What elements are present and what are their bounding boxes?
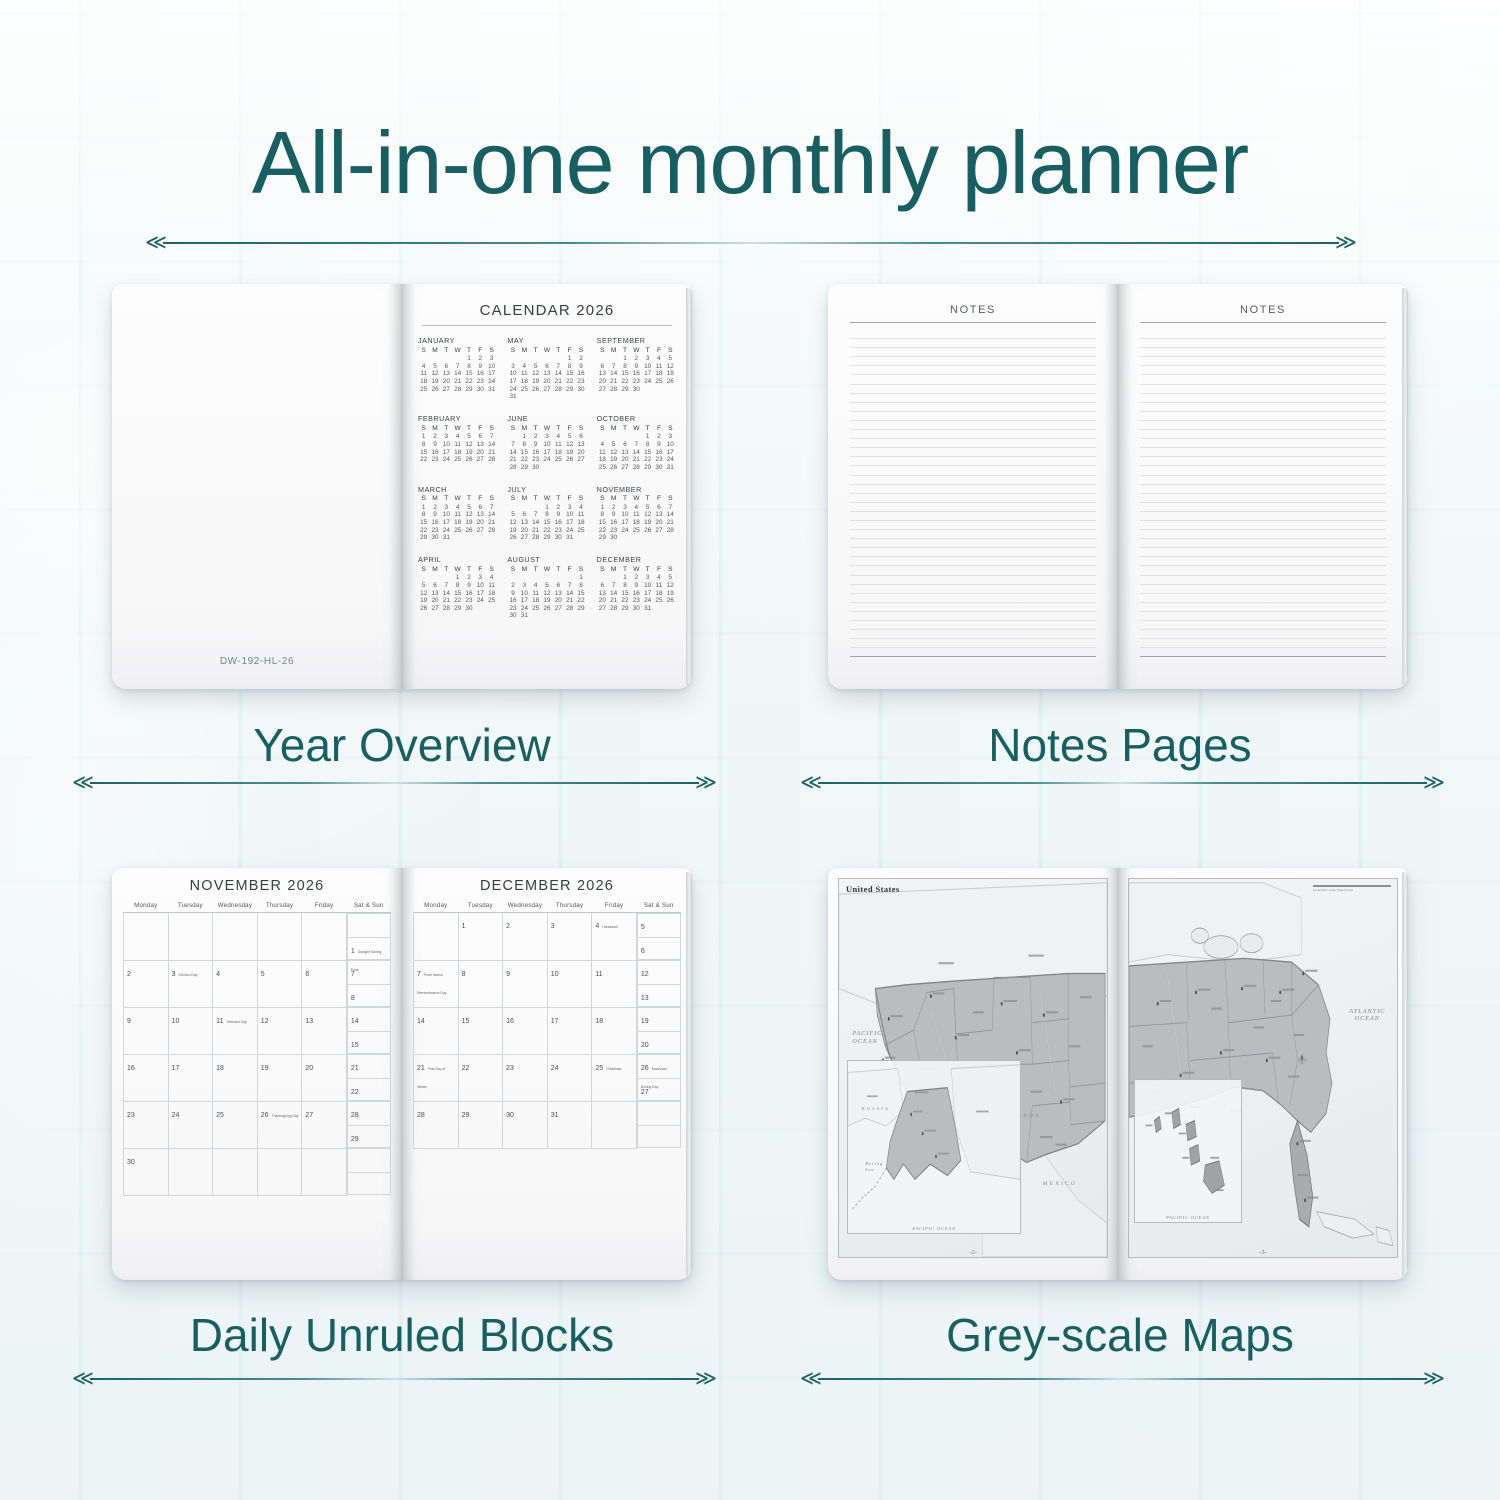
mini-month-day: 28 xyxy=(608,386,619,394)
weekday-initial: T xyxy=(441,496,452,505)
mini-month-day: 30 xyxy=(631,386,642,394)
planner-day-number: 22 xyxy=(462,1065,470,1072)
calendar-title: CALENDAR 2026 xyxy=(418,302,676,319)
planner-day-cell[interactable]: 9 xyxy=(503,960,548,1007)
mini-month-day: 30 xyxy=(575,386,586,394)
mini-month-day: 27 xyxy=(429,605,440,613)
mini-month-day: 8 xyxy=(642,441,653,449)
planner-weekday-header: Friday xyxy=(302,899,347,913)
map-left-page: United States xyxy=(828,868,1118,1280)
planner-weekend-half[interactable]: 7 xyxy=(347,960,391,984)
monthly-planner-book[interactable]: NOVEMBER 2026 MondayTuesdayWednesdayThur… xyxy=(112,868,692,1280)
weekday-initial: S xyxy=(418,496,429,505)
planner-day-cell[interactable] xyxy=(592,1101,637,1148)
mini-month-day: 4 xyxy=(597,441,608,449)
weekday-initial: S xyxy=(486,496,497,505)
mini-month-day: 7 xyxy=(564,582,575,590)
caption-rule-year-overview: ≪ ≫ xyxy=(72,772,717,794)
planner-day-cell[interactable] xyxy=(302,1148,347,1195)
weekday-initial: T xyxy=(530,347,541,356)
notes-line xyxy=(850,585,1096,594)
mini-month-day: 26 xyxy=(608,464,619,472)
planner-weekend-half[interactable]: 15 xyxy=(347,1031,391,1055)
weekday-initial: M xyxy=(429,347,440,356)
planner-day-cell[interactable]: 27 xyxy=(302,1101,347,1148)
mini-month-day xyxy=(553,613,564,621)
planner-weekday-header: Monday xyxy=(124,899,169,913)
planner-day-cell[interactable]: 30 xyxy=(503,1101,548,1148)
weekday-initial: S xyxy=(507,347,518,356)
planner-day-cell[interactable]: 4 xyxy=(213,960,258,1007)
mini-month-name: SEPTEMBER xyxy=(597,336,676,345)
mini-month: SEPTEMBERSMTWTFS123456789101112131415161… xyxy=(597,336,676,401)
mini-month: JUNESMTWTFS12345678910111213141516171819… xyxy=(507,414,586,472)
weekday-initial: S xyxy=(507,566,518,575)
mini-month-day: 8 xyxy=(519,441,530,449)
planner-day-cell[interactable]: 29 xyxy=(458,1101,503,1148)
notes-line xyxy=(1140,375,1386,384)
mini-month-day: 21 xyxy=(665,519,676,527)
planner-day-cell[interactable]: 24 xyxy=(547,1054,592,1101)
planner-weekend-half[interactable]: 27 xyxy=(637,1078,681,1102)
planner-day-cell[interactable]: 25Christmas xyxy=(592,1054,637,1101)
planner-weekday-header: Wednesday xyxy=(213,899,258,913)
planner-day-cell[interactable]: 26Thanksgiving Day xyxy=(257,1101,302,1148)
planner-weekend-half[interactable]: 14 xyxy=(347,1007,391,1031)
mini-month: AUGUSTSMTWTFS123456789101112131415161718… xyxy=(507,555,586,620)
planner-weekend-half[interactable] xyxy=(347,1172,391,1196)
product-code: DW-192-HL-26 xyxy=(220,656,294,667)
weekday-initial: F xyxy=(475,496,486,505)
planner-day-cell[interactable]: 31 xyxy=(547,1101,592,1148)
notes-line xyxy=(850,648,1096,657)
mini-month-table: SMTWTFS123456789101112131415161718192021… xyxy=(597,347,676,394)
title-underline-rule: ≪ ≫ xyxy=(145,232,1357,254)
mini-month-day xyxy=(463,535,474,543)
notes-line xyxy=(1140,366,1386,375)
planner-weekend-half[interactable] xyxy=(637,1101,681,1125)
weekday-initial: T xyxy=(530,566,541,575)
year-overview-book[interactable]: DW-192-HL-26 CALENDAR 2026 JANUARYSMTWTF… xyxy=(112,284,692,689)
weekday-initial: T xyxy=(553,496,564,505)
mini-month-day: 11 xyxy=(452,441,463,449)
notes-line xyxy=(1140,457,1386,466)
mini-month-day: 6 xyxy=(597,582,608,590)
planner-weekend-cell[interactable]: 1415 xyxy=(346,1007,391,1054)
planner-day-cell[interactable] xyxy=(213,1148,258,1195)
planner-day-number: 19 xyxy=(261,1065,269,1072)
mini-month: FEBRUARYSMTWTFS1234567891011121314151617… xyxy=(418,414,497,472)
mini-month-day: 10 xyxy=(475,582,486,590)
mini-month-day xyxy=(665,535,676,543)
notes-line xyxy=(850,412,1096,421)
caption-grey-scale-maps: Grey-scale Maps xyxy=(790,1308,1450,1362)
mini-month-day: 29 xyxy=(597,535,608,543)
planner-day-cell[interactable] xyxy=(213,913,258,961)
calendar-title-divider xyxy=(422,325,672,326)
mini-month-day: 19 xyxy=(530,378,541,386)
mini-month-day xyxy=(541,394,552,402)
planner-day-number: 20 xyxy=(641,1042,649,1049)
planner-day-cell[interactable]: 22 xyxy=(458,1054,503,1101)
notes-line xyxy=(850,375,1096,384)
planner-day-event: Christmas xyxy=(606,1067,621,1071)
weekday-initial: T xyxy=(530,496,541,505)
planner-day-number: 10 xyxy=(551,971,559,978)
planner-weekend-cell[interactable]: 1920 xyxy=(636,1007,681,1054)
planner-day-cell[interactable]: 28 xyxy=(414,1101,459,1148)
planner-weekend-cell[interactable]: 56 xyxy=(636,913,681,961)
planner-day-cell[interactable]: 14 xyxy=(414,1007,459,1054)
notes-line xyxy=(850,621,1096,630)
mini-month-day: 11 xyxy=(653,582,664,590)
mini-month-day: 19 xyxy=(429,378,440,386)
notes-line xyxy=(1140,357,1386,366)
mini-month-day: 22 xyxy=(619,378,630,386)
mini-month-day: 13 xyxy=(519,519,530,527)
mini-month-day: 29 xyxy=(575,605,586,613)
notes-line xyxy=(1140,512,1386,521)
mini-month-day: 23 xyxy=(475,378,486,386)
mini-month-day xyxy=(653,605,664,613)
planner-day-cell[interactable]: 21First Day of Winter xyxy=(414,1054,459,1101)
mini-month-day: 20 xyxy=(475,519,486,527)
planner-day-event: Hanukkah xyxy=(602,925,617,929)
planner-day-cell[interactable]: 30 xyxy=(124,1148,169,1195)
mini-month-table: SMTWTFS123456789101112131415161718192021… xyxy=(507,347,586,401)
mini-month-day xyxy=(530,394,541,402)
planner-day-cell[interactable] xyxy=(414,913,459,961)
mini-month-day: 23 xyxy=(631,378,642,386)
mini-month-day: 31 xyxy=(642,605,653,613)
notes-line xyxy=(1140,466,1386,475)
planner-day-cell[interactable] xyxy=(168,1148,213,1195)
planner-day-cell[interactable]: 2 xyxy=(503,913,548,961)
notes-ruled-lines-left xyxy=(850,330,1096,657)
mini-month-day: 24 xyxy=(486,378,497,386)
mini-month-day: 14 xyxy=(486,441,497,449)
notes-line xyxy=(850,594,1096,603)
planner-day-cell[interactable]: 13 xyxy=(302,1007,347,1054)
mini-month-day: 21 xyxy=(452,378,463,386)
planner-day-cell[interactable]: 17 xyxy=(168,1054,213,1101)
notes-line xyxy=(850,485,1096,494)
mini-month-day: 18 xyxy=(418,378,429,386)
weekday-initial: W xyxy=(541,496,552,505)
grey-scale-maps-book[interactable]: United States xyxy=(828,868,1408,1280)
planner-day-number: 27 xyxy=(305,1112,313,1119)
mini-month-day xyxy=(575,464,586,472)
mini-month-day: 8 xyxy=(452,582,463,590)
mini-month-table: SMTWTFS123456789101112131415161718192021… xyxy=(418,566,497,613)
mini-month-day xyxy=(541,613,552,621)
mini-month-day: 13 xyxy=(475,441,486,449)
mini-month-day: 28 xyxy=(530,535,541,543)
planner-day-cell[interactable] xyxy=(168,913,213,961)
mini-month-table: SMTWTFS123456789101112131415161718192021… xyxy=(597,496,676,543)
planner-day-cell[interactable] xyxy=(302,913,347,961)
mini-month-name: OCTOBER xyxy=(597,414,676,423)
planner-day-number: 13 xyxy=(641,995,649,1002)
rule-line xyxy=(818,782,1427,784)
mini-month-day: 27 xyxy=(619,464,630,472)
book-edge-right xyxy=(686,288,692,685)
mini-month-day: 18 xyxy=(519,378,530,386)
planner-weekend-half[interactable]: 1Daylight Saving Ends xyxy=(347,937,391,961)
mini-month-day xyxy=(631,535,642,543)
mini-month-name: DECEMBER xyxy=(597,555,676,564)
notes-line xyxy=(1140,530,1386,539)
mini-month-day: 30 xyxy=(631,605,642,613)
planner-weekend-cell[interactable]: 1213 xyxy=(636,960,681,1007)
mini-month-day: 31 xyxy=(486,386,497,394)
planner-day-number: 19 xyxy=(641,1018,649,1025)
planner-day-number: 3 xyxy=(172,971,176,978)
planner-weekday-header: Friday xyxy=(592,899,637,913)
planner-day-cell[interactable]: 8 xyxy=(458,960,503,1007)
planner-day-cell[interactable]: 25 xyxy=(213,1101,258,1148)
rule-line xyxy=(90,782,699,784)
planner-weekend-cell[interactable] xyxy=(636,1101,681,1148)
notes-line xyxy=(850,366,1096,375)
planner-day-number: 25 xyxy=(595,1065,603,1072)
notes-line xyxy=(1140,585,1386,594)
planner-weekend-half[interactable]: 6 xyxy=(637,937,681,961)
notes-line xyxy=(850,385,1096,394)
planner-day-number: 26 xyxy=(641,1065,649,1072)
mini-month-day: 9 xyxy=(653,441,664,449)
planner-day-cell[interactable]: 16 xyxy=(503,1007,548,1054)
ocean-label-pacific: PACIFIC OCEAN xyxy=(852,1030,892,1046)
planner-day-cell[interactable]: 18 xyxy=(213,1054,258,1101)
planner-day-cell[interactable]: 15 xyxy=(458,1007,503,1054)
mini-month-day: 23 xyxy=(575,378,586,386)
weekday-initial: M xyxy=(608,496,619,505)
chevron-right-icon: ≫ xyxy=(1423,1368,1445,1388)
planner-weekend-half[interactable]: 12 xyxy=(637,960,681,984)
mini-month-day: 26 xyxy=(665,598,676,606)
mini-month-day xyxy=(475,605,486,613)
planner-day-cell[interactable]: 17 xyxy=(547,1007,592,1054)
notes-line xyxy=(1140,576,1386,585)
planner-day-cell[interactable]: 18 xyxy=(592,1007,637,1054)
notes-line xyxy=(1140,339,1386,348)
planner-day-cell[interactable] xyxy=(124,913,169,961)
mini-month-day: 7 xyxy=(507,441,518,449)
planner-weekend-half[interactable]: 29 xyxy=(347,1125,391,1149)
planner-weekend-cell[interactable]: 78 xyxy=(346,960,391,1007)
mini-month-day xyxy=(642,535,653,543)
planner-weekend-cell[interactable]: 26Kwanzaa / Boxing Day27 xyxy=(636,1054,681,1101)
planner-day-number: 21 xyxy=(351,1065,359,1072)
planner-day-cell[interactable]: 1 xyxy=(458,913,503,961)
planner-day-number: 14 xyxy=(351,1018,359,1025)
map-frame-left: United States xyxy=(838,878,1108,1258)
planner-weekend-half[interactable]: 22 xyxy=(347,1078,391,1102)
mini-month-day: 12 xyxy=(463,441,474,449)
planner-weekend-cell[interactable]: 2829 xyxy=(346,1101,391,1148)
mini-month-day: 4 xyxy=(530,582,541,590)
planner-day-cell[interactable]: 19 xyxy=(257,1054,302,1101)
mini-month-day xyxy=(653,386,664,394)
planner-day-cell[interactable]: 4Hanukkah xyxy=(592,913,637,961)
mini-month: OCTOBERSMTWTFS12345678910111213141516171… xyxy=(597,414,676,472)
planner-day-number: 16 xyxy=(506,1018,514,1025)
planner-day-number: 29 xyxy=(462,1112,470,1119)
mini-month-name: MAY xyxy=(507,336,586,345)
planner-day-number: 15 xyxy=(462,1018,470,1025)
planner-day-cell[interactable]: 23 xyxy=(124,1101,169,1148)
planner-day-cell[interactable]: 11 xyxy=(592,960,637,1007)
mini-month-day: 26 xyxy=(429,386,440,394)
planner-day-cell[interactable]: 3 xyxy=(547,913,592,961)
mini-month-day: 29 xyxy=(519,464,530,472)
notes-line xyxy=(850,394,1096,403)
weekday-initial: W xyxy=(541,347,552,356)
planner-weekend-half[interactable] xyxy=(637,1125,681,1149)
mini-month-day: 30 xyxy=(507,613,518,621)
planner-day-cell[interactable]: 6 xyxy=(302,960,347,1007)
planner-weekend-half[interactable]: 28 xyxy=(347,1101,391,1125)
weekday-initial: W xyxy=(631,425,642,434)
mini-month-day: 28 xyxy=(631,464,642,472)
planner-weekend-half[interactable] xyxy=(347,913,391,937)
mini-month-day: 20 xyxy=(541,378,552,386)
planner-day-cell[interactable] xyxy=(257,913,302,961)
alaska-map-illustration xyxy=(848,1061,1020,1233)
planner-weekend-cell[interactable] xyxy=(346,1148,391,1195)
notes-line xyxy=(1140,648,1386,657)
mini-month-day: 9 xyxy=(429,441,440,449)
mini-month-table: SMTWTFS123456789101112131415161718192021… xyxy=(418,425,497,464)
planner-day-cell[interactable]: 5 xyxy=(257,960,302,1007)
planner-weekend-half[interactable]: 13 xyxy=(637,984,681,1008)
mini-month-day: 25 xyxy=(653,598,664,606)
notes-heading-left: NOTES xyxy=(844,304,1102,316)
planner-day-number: 2 xyxy=(127,971,131,978)
mini-month-day: 18 xyxy=(631,519,642,527)
book-edge-right xyxy=(1402,872,1408,1276)
mini-month-table: SMTWTFS123456789101112131415161718192021… xyxy=(597,566,676,613)
notes-line xyxy=(850,503,1096,512)
planner-day-cell[interactable]: 9 xyxy=(124,1007,169,1054)
planner-day-cell[interactable]: 7Pearl Harbor Remembrance Day xyxy=(414,960,459,1007)
notes-line xyxy=(1140,385,1386,394)
mini-month-day: 12 xyxy=(564,441,575,449)
planner-day-cell[interactable]: 2 xyxy=(124,960,169,1007)
notes-line xyxy=(850,630,1096,639)
planner-weekend-half[interactable]: 26Kwanzaa / Boxing Day xyxy=(637,1054,681,1078)
notes-line xyxy=(1140,566,1386,575)
mini-month-day: 25 xyxy=(575,527,586,535)
notes-pages-book[interactable]: NOTES NOTES xyxy=(828,284,1408,689)
planner-day-cell[interactable]: 10 xyxy=(168,1007,213,1054)
mini-month-day: 15 xyxy=(418,519,429,527)
mini-month-day: 3 xyxy=(519,582,530,590)
planner-week-row: 16171819202122 xyxy=(124,1054,392,1101)
planner-weekend-half[interactable]: 19 xyxy=(637,1007,681,1031)
alaska-inset: RUSSIA Bering Sea PACIFIC OCEAN xyxy=(847,1060,1021,1234)
mini-month-day xyxy=(564,464,575,472)
planner-day-number: 21 xyxy=(417,1065,425,1072)
mini-month-day: 26 xyxy=(418,605,429,613)
weekday-initial: M xyxy=(608,425,619,434)
notes-line xyxy=(1140,403,1386,412)
notes-line xyxy=(1140,448,1386,457)
mini-month-day xyxy=(575,394,586,402)
mini-month-day: 8 xyxy=(619,582,630,590)
planner-day-number: 24 xyxy=(551,1065,559,1072)
notes-line xyxy=(850,476,1096,485)
planner-day-number: 10 xyxy=(172,1018,180,1025)
month-grid-right: MondayTuesdayWednesdayThursdayFridaySat … xyxy=(413,899,681,1149)
mini-month-day: 12 xyxy=(665,582,676,590)
mini-month-day: 31 xyxy=(507,394,518,402)
planner-day-cell[interactable]: 3Election Day xyxy=(168,960,213,1007)
mini-month-day: 10 xyxy=(665,441,676,449)
notes-line xyxy=(850,521,1096,530)
planner-day-cell[interactable]: 12 xyxy=(257,1007,302,1054)
notes-line xyxy=(850,548,1096,557)
planner-weekday-header: Monday xyxy=(414,899,459,913)
planner-day-number: 9 xyxy=(506,971,510,978)
planner-weekend-half[interactable] xyxy=(347,1148,391,1172)
planner-day-number: 18 xyxy=(595,1018,603,1025)
mini-month-day: 17 xyxy=(564,519,575,527)
mini-month-day: 25 xyxy=(486,598,497,606)
weekday-initial: M xyxy=(429,566,440,575)
notes-divider-left xyxy=(850,322,1096,323)
mini-month-day: 9 xyxy=(463,582,474,590)
page-title: All-in-one monthly planner xyxy=(0,112,1500,214)
planner-weekend-half[interactable]: 8 xyxy=(347,984,391,1008)
map-left-page-number: -2- xyxy=(969,1249,977,1256)
planner-day-number: 24 xyxy=(172,1112,180,1119)
planner-week-row: 28293031 xyxy=(414,1101,682,1148)
planner-day-cell[interactable]: 24 xyxy=(168,1101,213,1148)
planner-weekend-half[interactable]: 21 xyxy=(347,1054,391,1078)
planner-weekend-cell[interactable]: 2122 xyxy=(346,1054,391,1101)
planner-day-cell[interactable]: 11Veterans Day xyxy=(213,1007,258,1054)
planner-day-cell[interactable]: 20 xyxy=(302,1054,347,1101)
planner-day-number: 8 xyxy=(462,971,466,978)
planner-weekend-half[interactable]: 5 xyxy=(637,913,681,937)
mini-month-day: 27 xyxy=(653,527,664,535)
weekday-initial: W xyxy=(541,566,552,575)
planner-day-cell[interactable]: 10 xyxy=(547,960,592,1007)
mini-month-day: 27 xyxy=(597,386,608,394)
notes-line xyxy=(850,421,1096,430)
planner-weekend-half[interactable]: 20 xyxy=(637,1031,681,1055)
alaska-inset-ocean-label: PACIFIC OCEAN xyxy=(912,1226,956,1231)
mini-month-day: 18 xyxy=(575,519,586,527)
book-edge-right xyxy=(1402,288,1408,685)
notes-line xyxy=(1140,439,1386,448)
planner-day-cell[interactable]: 16 xyxy=(124,1054,169,1101)
planner-weekend-cell[interactable]: 1Daylight Saving Ends xyxy=(346,913,391,961)
mini-month-day: 9 xyxy=(530,441,541,449)
weekday-initial: S xyxy=(575,496,586,505)
planner-day-cell[interactable]: 23 xyxy=(503,1054,548,1101)
notes-line xyxy=(1140,548,1386,557)
mini-month-day: 15 xyxy=(597,519,608,527)
mini-month-day: 20 xyxy=(597,378,608,386)
notes-line xyxy=(1140,430,1386,439)
planner-day-number: 16 xyxy=(127,1065,135,1072)
planner-day-cell[interactable] xyxy=(257,1148,302,1195)
weekday-initial: T xyxy=(553,347,564,356)
mini-month-day: 27 xyxy=(575,457,586,465)
